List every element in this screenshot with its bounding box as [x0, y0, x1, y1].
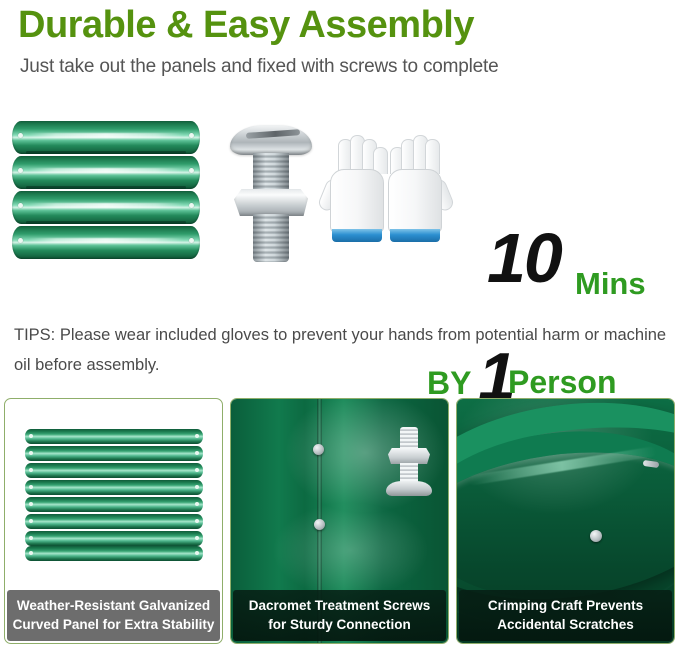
panel-screw-hole-icon [18, 238, 23, 243]
panel-screw-hole-icon [189, 133, 194, 138]
feature-card-caption: Weather-Resistant Galvanized Curved Pane… [7, 590, 220, 641]
feature-card-list: Weather-Resistant Galvanized Curved Pane… [4, 398, 675, 646]
feature-card-caption: Crimping Craft Prevents Accidental Scrat… [459, 590, 672, 641]
panel-screw-hole-icon [189, 238, 194, 243]
caption-line-1: Weather-Resistant Galvanized [11, 596, 216, 615]
tips-text: TIPS: Please wear included gloves to pre… [14, 320, 669, 380]
hero-section: 10 Mins BY 1 Person [0, 105, 679, 300]
panel-groove [26, 151, 186, 154]
glove-right-icon [380, 135, 448, 247]
assembly-time-unit: Mins [575, 268, 646, 299]
feature-card[interactable]: Crimping Craft Prevents Accidental Scrat… [456, 398, 675, 644]
panel-screw-hole-icon [18, 203, 23, 208]
mini-screw-icon [313, 444, 324, 455]
page-title: Durable & Easy Assembly [18, 2, 474, 48]
feature-card[interactable]: Dacromet Treatment Screws for Sturdy Con… [230, 398, 449, 644]
panel-screw-hole-icon [18, 133, 23, 138]
caption-line-2: Accidental Scratches [463, 615, 668, 634]
panel-rib [12, 226, 200, 259]
assembly-time-number: 10 [487, 223, 561, 293]
dacromet-screw-icon [386, 427, 432, 495]
panel-rib [12, 191, 200, 224]
panel-screw-hole-icon [189, 203, 194, 208]
panel-screw-hole-icon [18, 168, 23, 173]
corrugated-panel-illustration [12, 121, 200, 261]
rim-screw-icon [590, 530, 602, 542]
caption-line-2: for Sturdy Connection [237, 615, 442, 634]
screw-head-icon [230, 125, 312, 155]
panel-rib [12, 156, 200, 189]
hex-nut-icon [234, 189, 308, 216]
feature-card-caption: Dacromet Treatment Screws for Sturdy Con… [233, 590, 446, 641]
caption-line-1: Crimping Craft Prevents [463, 596, 668, 615]
feature-card[interactable]: Weather-Resistant Galvanized Curved Pane… [4, 398, 223, 644]
screw-and-nut-illustration [228, 117, 314, 269]
work-gloves-illustration [322, 135, 454, 250]
screw-thread-upper [253, 153, 289, 193]
caption-line-2: Curved Panel for Extra Stability [11, 615, 216, 634]
page-subtitle: Just take out the panels and fixed with … [20, 56, 498, 78]
panel-rib [12, 121, 200, 154]
panel-groove [26, 186, 186, 189]
panel-groove [26, 221, 186, 224]
panel-screw-hole-icon [189, 168, 194, 173]
screw-thread-lower [253, 214, 289, 262]
screw-slot-icon [246, 129, 300, 139]
caption-line-1: Dacromet Treatment Screws [237, 596, 442, 615]
mini-screw-icon [314, 519, 325, 530]
